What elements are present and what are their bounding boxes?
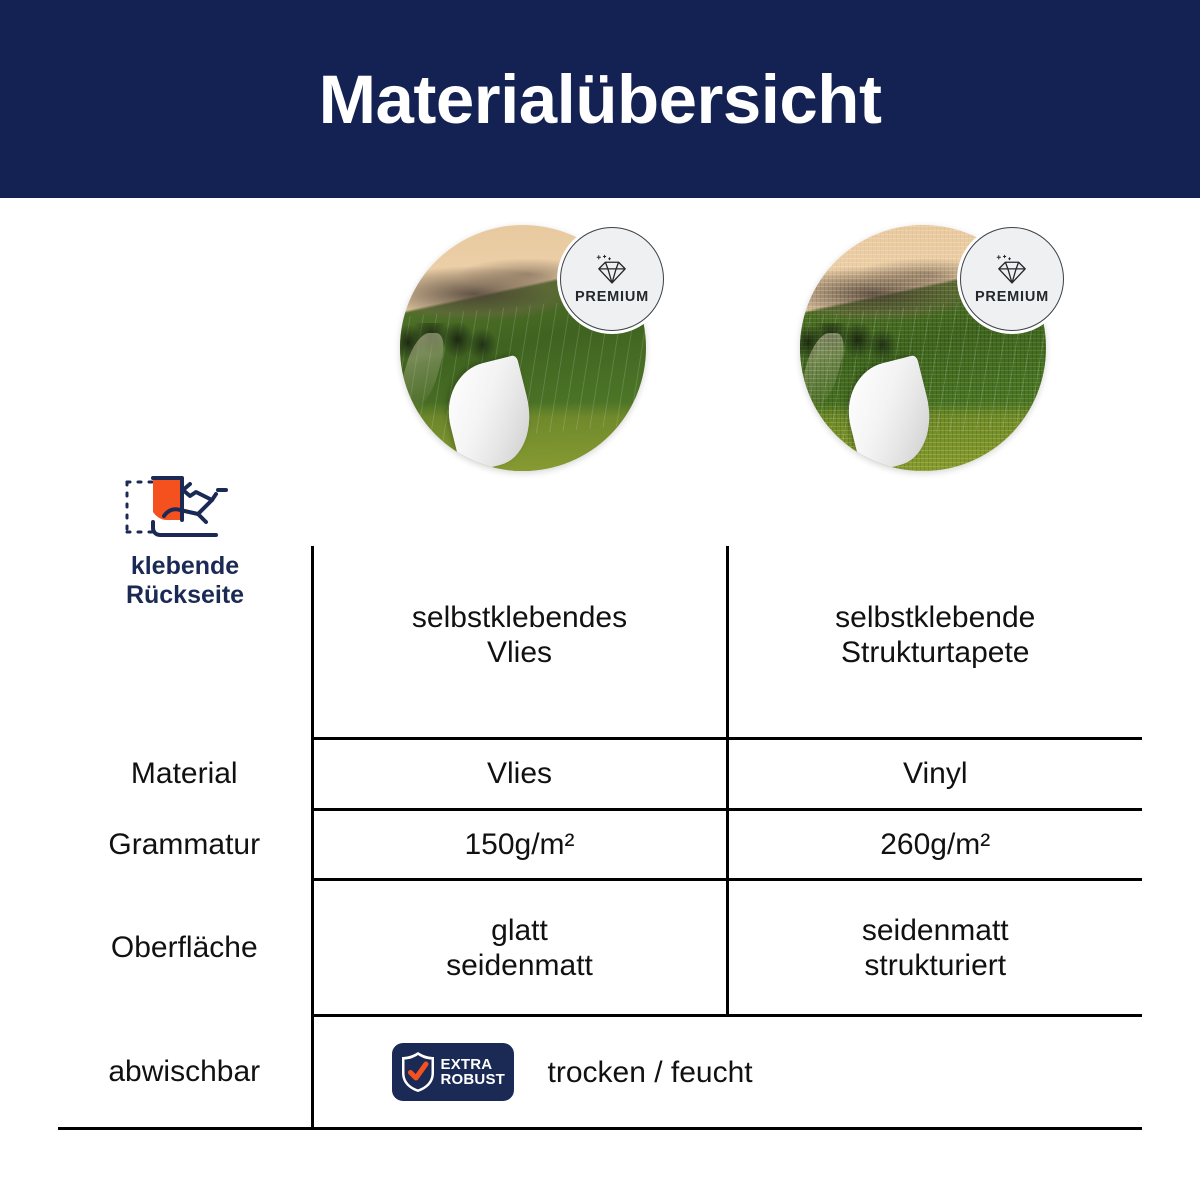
premium-label: PREMIUM	[975, 289, 1049, 305]
page-title: Materialübersicht	[319, 65, 882, 134]
cell-oberflaeche-vlies: glatt seidenmatt	[312, 880, 727, 1016]
product-name-vlies-line2: Vlies	[330, 635, 710, 670]
premium-badge: PREMIUM	[560, 227, 664, 331]
table-row-product-names: selbstklebendes Vlies selbstklebende Str…	[58, 546, 1142, 738]
row-label-grammatur: Grammatur	[58, 809, 312, 880]
material-spec-table: selbstklebendes Vlies selbstklebende Str…	[58, 546, 1142, 1130]
extra-robust-text: EXTRA ROBUST	[441, 1057, 506, 1088]
cell-material-struktur: Vinyl	[727, 738, 1142, 809]
cell-material-vlies: Vlies	[312, 738, 727, 809]
abwischbar-value: trocken / feucht	[548, 1055, 753, 1090]
oberflaeche-vlies-line2: seidenmatt	[314, 948, 726, 983]
cell-abwischbar-merged: EXTRA ROBUST trocken / feucht	[312, 1016, 1142, 1129]
row-label-material: Material	[58, 738, 312, 809]
row-label-oberflaeche: Oberfläche	[58, 880, 312, 1016]
table-row-material: Material Vlies Vinyl	[58, 738, 1142, 809]
diamond-icon	[592, 254, 632, 287]
peeling-adhesive-backing-icon	[120, 470, 250, 544]
oberflaeche-struktur-line1: seidenmatt	[729, 913, 1143, 948]
cell-grammatur-struktur: 260g/m²	[727, 809, 1142, 880]
extra-robust-badge: EXTRA ROBUST	[392, 1043, 514, 1101]
sample-images-row: PREMIUM	[0, 198, 1200, 488]
cell-oberflaeche-struktur: seidenmatt strukturiert	[727, 880, 1142, 1016]
oberflaeche-vlies-line1: glatt	[314, 913, 726, 948]
row-label-abwischbar: abwischbar	[58, 1016, 312, 1129]
table-row-oberflaeche: Oberfläche glatt seidenmatt seidenmatt s…	[58, 880, 1142, 1016]
cell-product-name-vlies: selbstklebendes Vlies	[312, 546, 727, 738]
oberflaeche-struktur-line2: strukturiert	[729, 948, 1143, 983]
extra-robust-line1: EXTRA	[441, 1057, 506, 1072]
header-band: Materialübersicht	[0, 0, 1200, 198]
table-row-grammatur: Grammatur 150g/m² 260g/m²	[58, 809, 1142, 880]
material-overview-page: Materialübersicht	[0, 0, 1200, 1200]
premium-label: PREMIUM	[575, 289, 649, 305]
diamond-icon	[992, 254, 1032, 287]
sample-image-vlies: PREMIUM	[400, 225, 646, 471]
cell-product-name-strukturtapete: selbstklebende Strukturtapete	[727, 546, 1142, 738]
abwischbar-content: EXTRA ROBUST trocken / feucht	[314, 1043, 1143, 1101]
cell-grammatur-vlies: 150g/m²	[312, 809, 727, 880]
sample-image-strukturtapete: PREMIUM	[800, 225, 1046, 471]
product-name-struktur-line1: selbstklebende	[745, 600, 1127, 635]
cell-empty-corner	[58, 546, 312, 738]
table-row-abwischbar: abwischbar EXTRA ROBUST	[58, 1016, 1142, 1129]
premium-badge: PREMIUM	[960, 227, 1064, 331]
product-name-struktur-line2: Strukturtapete	[745, 635, 1127, 670]
product-name-vlies-line1: selbstklebendes	[330, 600, 710, 635]
extra-robust-line2: ROBUST	[441, 1072, 506, 1087]
shield-check-icon	[400, 1051, 436, 1093]
